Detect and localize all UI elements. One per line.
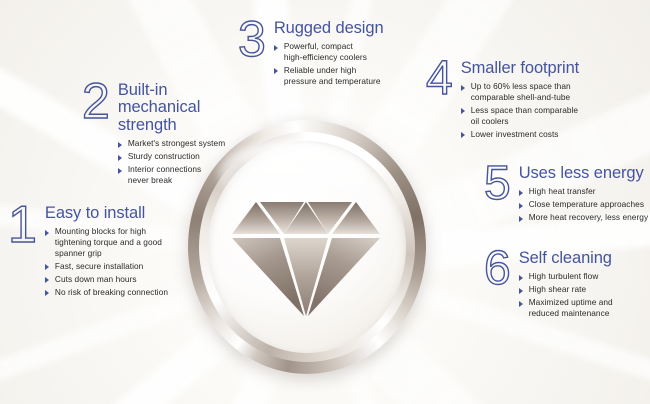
list-item: More heat recovery, less energy [519, 212, 648, 223]
feature-heading-5: Uses less energy [519, 165, 648, 182]
feature-heading-2: Built-in mechanical strength [118, 82, 225, 134]
feature-block-1: 1 Easy to install Mounting blocks for hi… [8, 203, 168, 300]
list-item: Reliable under high pressure and tempera… [274, 65, 384, 87]
list-item: High shear rate [519, 284, 613, 295]
list-item: Market's strongest system [118, 138, 225, 149]
list-item: Maximized uptime and reduced maintenance [519, 297, 613, 319]
feature-points-6: High turbulent flow High shear rate Maxi… [519, 271, 613, 319]
feature-number-1: 1 [8, 203, 37, 248]
feature-points-3: Powerful, compact high-efficiency cooler… [274, 41, 384, 86]
feature-block-6: 6 Self cleaning High turbulent flow High… [484, 248, 613, 321]
list-item: Sturdy construction [118, 151, 225, 162]
feature-block-3: 3 Rugged design Powerful, compact high-e… [238, 18, 384, 89]
list-item: High turbulent flow [519, 271, 613, 282]
list-item: Powerful, compact high-efficiency cooler… [274, 41, 384, 63]
feature-body-2: Built-in mechanical strength Market's st… [118, 80, 225, 188]
list-item: No risk of breaking connection [45, 287, 168, 298]
feature-heading-3: Rugged design [274, 20, 384, 37]
feature-body-3: Rugged design Powerful, compact high-eff… [274, 18, 384, 89]
list-item: Up to 60% less space than comparable she… [461, 81, 579, 103]
feature-points-4: Up to 60% less space than comparable she… [461, 81, 579, 139]
diamond-icon [230, 192, 382, 318]
feature-number-4: 4 [426, 58, 453, 99]
feature-block-4: 4 Smaller footprint Up to 60% less space… [426, 58, 579, 142]
feature-heading-4: Smaller footprint [461, 60, 579, 77]
feature-number-3: 3 [238, 18, 266, 61]
feature-heading-1: Easy to install [45, 205, 168, 222]
feature-points-2: Market's strongest system Sturdy constru… [118, 138, 225, 186]
feature-body-1: Easy to install Mounting blocks for high… [45, 203, 168, 300]
feature-body-5: Uses less energy High heat transfer Clos… [519, 163, 648, 225]
list-item: Close temperature approaches [519, 199, 648, 210]
list-item: Interior connections never break [118, 164, 225, 186]
list-item: High heat transfer [519, 186, 648, 197]
list-item: Cuts down man hours [45, 274, 168, 285]
feature-points-1: Mounting blocks for high tightening torq… [45, 226, 168, 297]
list-item: Mounting blocks for high tightening torq… [45, 226, 168, 258]
feature-body-4: Smaller footprint Up to 60% less space t… [461, 58, 579, 142]
feature-body-6: Self cleaning High turbulent flow High s… [519, 248, 613, 321]
feature-points-5: High heat transfer Close temperature app… [519, 186, 648, 223]
infographic-canvas: 1 Easy to install Mounting blocks for hi… [0, 0, 650, 404]
feature-number-5: 5 [484, 163, 511, 204]
feature-heading-6: Self cleaning [519, 250, 613, 267]
list-item: Lower investment costs [461, 129, 579, 140]
feature-number-6: 6 [484, 248, 511, 289]
feature-block-5: 5 Uses less energy High heat transfer Cl… [484, 163, 648, 225]
list-item: Less space than comparable oil coolers [461, 105, 579, 127]
feature-number-2: 2 [82, 80, 110, 123]
list-item: Fast, secure installation [45, 261, 168, 272]
feature-block-2: 2 Built-in mechanical strength Market's … [82, 80, 225, 188]
